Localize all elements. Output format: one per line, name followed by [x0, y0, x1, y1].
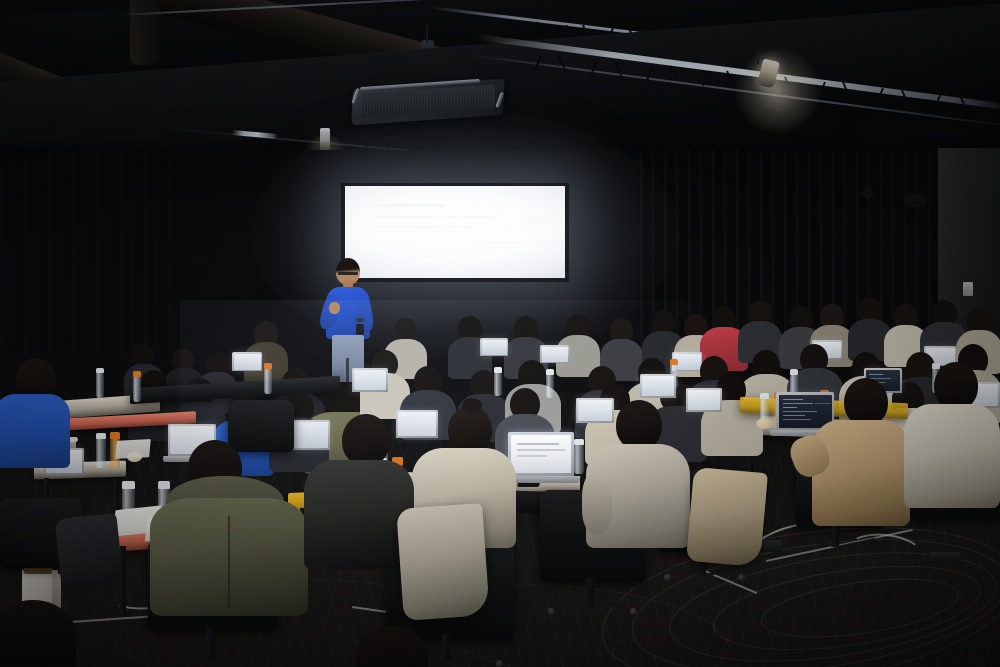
- water-bottle: [96, 372, 104, 398]
- laptop-screen: [542, 347, 568, 362]
- draped-jacket: [396, 503, 490, 621]
- water-bottle: [133, 376, 141, 402]
- laptop-screen-text-line: [517, 455, 547, 457]
- bottle-cap-orange: [110, 432, 120, 439]
- ceiling: [0, 0, 1000, 175]
- bottle-cap: [546, 369, 554, 375]
- pendant-light-rod: [426, 24, 428, 42]
- laptop: [480, 338, 508, 356]
- chair-caster: [548, 608, 555, 615]
- conference-hall-photo: Dark auditorium-style seminar room with …: [0, 0, 1000, 667]
- attendee-head: [844, 378, 888, 426]
- attendee-left-blue: [0, 358, 70, 470]
- pastry: [756, 418, 773, 429]
- screen-content-ghost: [409, 256, 443, 258]
- code-line: [783, 419, 811, 421]
- bottle-cap-orange: [264, 363, 272, 369]
- screen-content-ghost: [477, 242, 523, 244]
- attendee-front-olive-hoodie: [150, 440, 310, 630]
- water-bottle: [494, 372, 502, 396]
- laptop-screen: [511, 435, 571, 473]
- attendee-arm: [582, 472, 612, 534]
- code-line: [783, 399, 803, 401]
- bottle-cap: [122, 481, 135, 489]
- laptop: [640, 374, 676, 398]
- projection-screen: [345, 186, 565, 278]
- chair-post: [206, 626, 215, 660]
- laptop: [352, 368, 388, 392]
- floor-power-box: [930, 552, 960, 563]
- laptop-screen-text-line: [517, 443, 559, 445]
- air-duct-riser: [130, 0, 160, 65]
- presenter-clicker: [356, 324, 364, 335]
- laptop-screen: [354, 370, 386, 390]
- water-bottle: [264, 368, 272, 394]
- bottle-cap: [494, 367, 502, 373]
- laptop: [540, 345, 569, 363]
- screen-content-ghost: [375, 226, 473, 228]
- bottle-cap: [760, 393, 769, 399]
- presenter-watch: [356, 318, 364, 322]
- screen-content-ghost: [375, 204, 445, 207]
- ceiling-speaker: [863, 190, 872, 197]
- laptop-screen: [688, 390, 720, 410]
- screen-content-ghost: [375, 216, 495, 218]
- stage-curtain-left: [0, 150, 170, 350]
- light-switch-plate: [963, 282, 973, 296]
- laptop-screen: [234, 354, 261, 370]
- chair-caster: [738, 574, 745, 581]
- water-bottle: [96, 438, 106, 468]
- attendee-head: [616, 400, 662, 450]
- chair-caster: [664, 574, 671, 581]
- presenter: [318, 258, 376, 382]
- attendee-white-shirt-right: [904, 362, 1000, 512]
- wall-speaker: [908, 196, 924, 205]
- screen-content-ghost: [521, 216, 547, 230]
- bottle-cap: [96, 433, 106, 439]
- bottle-cap: [96, 368, 104, 373]
- jacket-seam: [228, 516, 230, 608]
- draped-jacket: [686, 467, 768, 567]
- presenter-leg-gap: [346, 358, 349, 382]
- attendee-head: [934, 362, 978, 410]
- attendee-front-grey-sweater: [582, 400, 692, 570]
- laptop: [232, 352, 262, 371]
- attendee-head: [342, 414, 390, 466]
- chair-post: [442, 634, 451, 660]
- chair-caster: [630, 608, 637, 615]
- presenter-glasses: [338, 272, 358, 275]
- chair-caster: [496, 660, 503, 667]
- code-line: [783, 415, 805, 417]
- water-bottle: [546, 374, 554, 398]
- table-leg: [120, 546, 126, 616]
- bottle-cap: [790, 369, 798, 375]
- laptop-screen: [482, 340, 507, 355]
- attendee-jacket-dark: [304, 460, 414, 570]
- attendee-shirt-blue: [0, 394, 70, 468]
- attendee-tan-coat: [810, 378, 914, 534]
- attendee-shirt-white: [904, 404, 1000, 508]
- attendee-coat-tan: [812, 420, 910, 526]
- draped-jacket: [55, 513, 124, 589]
- bottle-cap-orange: [133, 371, 141, 377]
- chair-post: [586, 578, 594, 608]
- presenter-hand-gesture: [329, 302, 340, 314]
- laptop-screen-text-line: [517, 449, 565, 451]
- code-line: [869, 374, 883, 375]
- hair-bun: [462, 398, 482, 414]
- paper-sheet: [115, 439, 151, 459]
- bottle-cap-orange: [670, 359, 678, 365]
- code-line: [783, 403, 813, 405]
- code-line: [783, 407, 797, 409]
- laptop-screen: [642, 376, 674, 396]
- spotlight-yoke: [757, 52, 759, 64]
